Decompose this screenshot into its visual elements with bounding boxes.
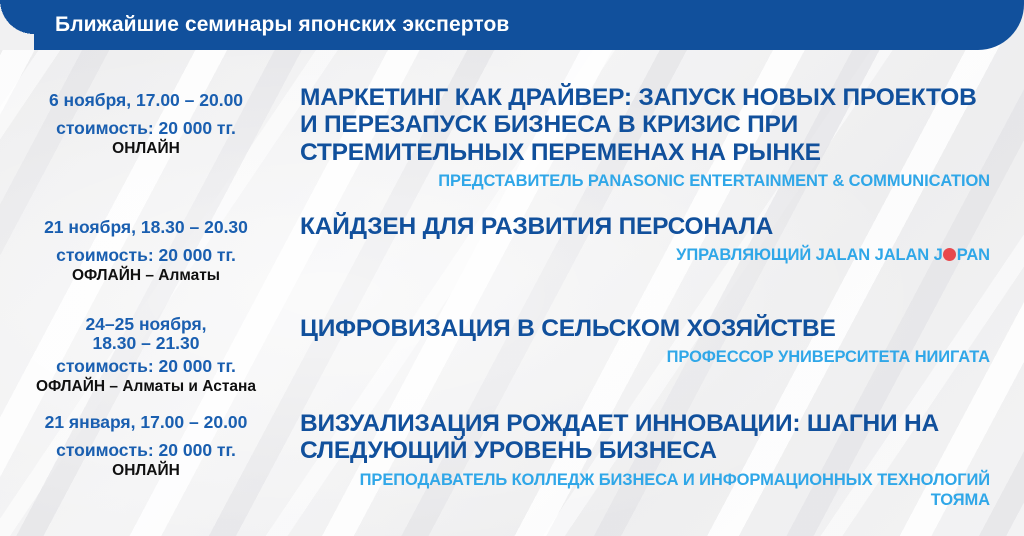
seminar-format: ОНЛАЙН	[0, 462, 292, 480]
seminar-speaker: ПРОФЕССОР УНИВЕРСИТЕТА НИИГАТА	[300, 348, 990, 368]
japan-flag-dot-icon	[943, 248, 956, 261]
seminar-date: 24–25 ноября,	[0, 315, 292, 334]
header-left-notch	[0, 0, 34, 50]
seminar-details: МАРКЕТИНГ КАК ДРАЙВЕР: ЗАПУСК НОВЫХ ПРОЕ…	[292, 84, 1024, 192]
seminar-meta: 21 ноября, 18.30 – 20.30 стоимость: 20 0…	[0, 213, 292, 285]
seminar-title: КАЙДЗЕН ДЛЯ РАЗВИТИЯ ПЕРСОНАЛА	[300, 213, 990, 240]
seminar-row: 24–25 ноября, 18.30 – 21.30 стоимость: 2…	[0, 315, 1024, 395]
seminar-time: 18.30 – 21.30	[0, 334, 292, 353]
seminar-date: 21 ноября, 18.30 – 20.30	[0, 217, 292, 238]
seminar-row: 21 января, 17.00 – 20.00 стоимость: 20 0…	[0, 410, 1024, 510]
seminar-speaker: ПРЕПОДАВАТЕЛЬ КОЛЛЕДЖ БИЗНЕСА И ИНФОРМАЦ…	[300, 471, 990, 511]
seminar-date: 6 ноября, 17.00 – 20.00	[0, 90, 292, 111]
seminar-format: ОФЛАЙН – Алматы	[0, 267, 292, 285]
seminar-details: КАЙДЗЕН ДЛЯ РАЗВИТИЯ ПЕРСОНАЛА УПРАВЛЯЮЩ…	[292, 213, 1024, 266]
seminar-list: 6 ноября, 17.00 – 20.00 стоимость: 20 00…	[0, 50, 1024, 536]
seminar-speaker: УПРАВЛЯЮЩИЙ JALAN JALAN JPAN	[300, 246, 990, 266]
seminar-details: ЦИФРОВИЗАЦИЯ В СЕЛЬСКОМ ХОЗЯЙСТВЕ ПРОФЕС…	[292, 315, 1024, 368]
seminar-title: ЦИФРОВИЗАЦИЯ В СЕЛЬСКОМ ХОЗЯЙСТВЕ	[300, 315, 990, 342]
seminar-format: ОНЛАЙН	[0, 140, 292, 158]
seminar-speaker: ПРЕДСТАВИТЕЛЬ PANASONIC ENTERTAINMENT & …	[300, 172, 990, 192]
seminar-meta: 6 ноября, 17.00 – 20.00 стоимость: 20 00…	[0, 84, 292, 158]
speaker-text-suffix: PAN	[957, 246, 990, 264]
seminar-row: 21 ноября, 18.30 – 20.30 стоимость: 20 0…	[0, 213, 1024, 285]
seminar-price: стоимость: 20 000 тг.	[0, 118, 292, 138]
seminar-meta: 21 января, 17.00 – 20.00 стоимость: 20 0…	[0, 410, 292, 480]
seminar-row: 6 ноября, 17.00 – 20.00 стоимость: 20 00…	[0, 84, 1024, 192]
seminar-price: стоимость: 20 000 тг.	[0, 356, 292, 376]
seminar-details: ВИЗУАЛИЗАЦИЯ РОЖДАЕТ ИННОВАЦИИ: ШАГНИ НА…	[292, 410, 1024, 510]
seminar-price: стоимость: 20 000 тг.	[0, 245, 292, 265]
seminar-title: ВИЗУАЛИЗАЦИЯ РОЖДАЕТ ИННОВАЦИИ: ШАГНИ НА…	[300, 410, 990, 465]
seminar-meta: 24–25 ноября, 18.30 – 21.30 стоимость: 2…	[0, 315, 292, 395]
seminar-price: стоимость: 20 000 тг.	[0, 440, 292, 460]
seminar-schedule-poster: Ближайшие семинары японских экспертов 6 …	[0, 0, 1024, 536]
speaker-text-prefix: УПРАВЛЯЮЩИЙ JALAN JALAN J	[676, 246, 943, 264]
seminar-title: МАРКЕТИНГ КАК ДРАЙВЕР: ЗАПУСК НОВЫХ ПРОЕ…	[300, 84, 990, 166]
seminar-date: 21 января, 17.00 – 20.00	[0, 412, 292, 433]
page-title: Ближайшие семинары японских экспертов	[55, 0, 509, 50]
seminar-format: ОФЛАЙН – Алматы и Астана	[0, 378, 292, 396]
